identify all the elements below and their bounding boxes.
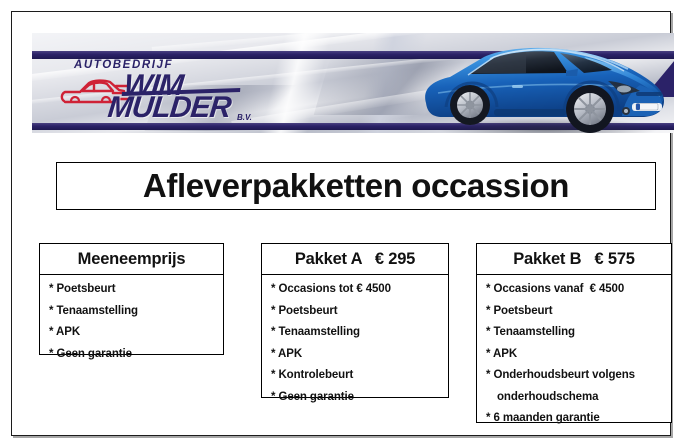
page-title-box: Afleverpakketten occassion	[56, 162, 656, 210]
page-frame: AUTOBEDRIJF WIM MULDER B.V. Afleverpakke…	[11, 11, 671, 436]
list-item: * APK	[49, 327, 223, 339]
package-item-list: * Occasions tot € 4500 * Poetsbeurt * Te…	[262, 275, 448, 412]
list-item: * Occasions tot € 4500	[271, 284, 448, 296]
list-item: * Poetsbeurt	[49, 284, 223, 296]
package-heading: Pakket A € 295	[295, 250, 415, 269]
company-logo: AUTOBEDRIJF WIM MULDER B.V.	[50, 59, 265, 125]
package-item-list: * Occasions vanaf € 4500 * Poetsbeurt * …	[477, 275, 671, 434]
list-item: * Geen garantie	[49, 349, 223, 361]
logo-name-line2: MULDER	[106, 93, 231, 123]
list-item: * Poetsbeurt	[486, 306, 671, 318]
package-card-meeneemprijs: Meeneemprijs * Poetsbeurt * Tenaamstelli…	[39, 243, 224, 355]
package-item-list: * Poetsbeurt * Tenaamstelling * APK * Ge…	[40, 275, 223, 369]
list-item: * 6 maanden garantie	[486, 413, 671, 425]
page-title: Afleverpakketten occassion	[143, 167, 569, 205]
list-item: * Kontrolebeurt	[271, 370, 448, 382]
list-item: * Poetsbeurt	[271, 306, 448, 318]
package-heading: Meeneemprijs	[78, 250, 186, 269]
package-card-pakket-b: Pakket B € 575 * Occasions vanaf € 4500 …	[476, 243, 672, 423]
package-header: Pakket A € 295	[262, 244, 448, 275]
list-item-continuation: onderhoudschema	[486, 392, 671, 404]
list-item: * Occasions vanaf € 4500	[486, 284, 671, 296]
package-heading: Pakket B € 575	[513, 250, 635, 269]
list-item: * APK	[271, 349, 448, 361]
header-banner: AUTOBEDRIJF WIM MULDER B.V.	[32, 33, 674, 133]
list-item: * Tenaamstelling	[49, 306, 223, 318]
car-photo-svg	[408, 33, 674, 133]
list-item: * Geen garantie	[271, 392, 448, 404]
package-header: Meeneemprijs	[40, 244, 223, 275]
logo-legal-suffix: B.V.	[237, 113, 252, 122]
list-item: * Onderhoudsbeurt volgens	[486, 370, 671, 382]
list-item: * APK	[486, 349, 671, 361]
list-item: * Tenaamstelling	[486, 327, 671, 339]
package-card-pakket-a: Pakket A € 295 * Occasions tot € 4500 * …	[261, 243, 449, 398]
list-item: * Tenaamstelling	[271, 327, 448, 339]
blue-hatchback-car-photo	[408, 33, 674, 133]
package-header: Pakket B € 575	[477, 244, 671, 275]
